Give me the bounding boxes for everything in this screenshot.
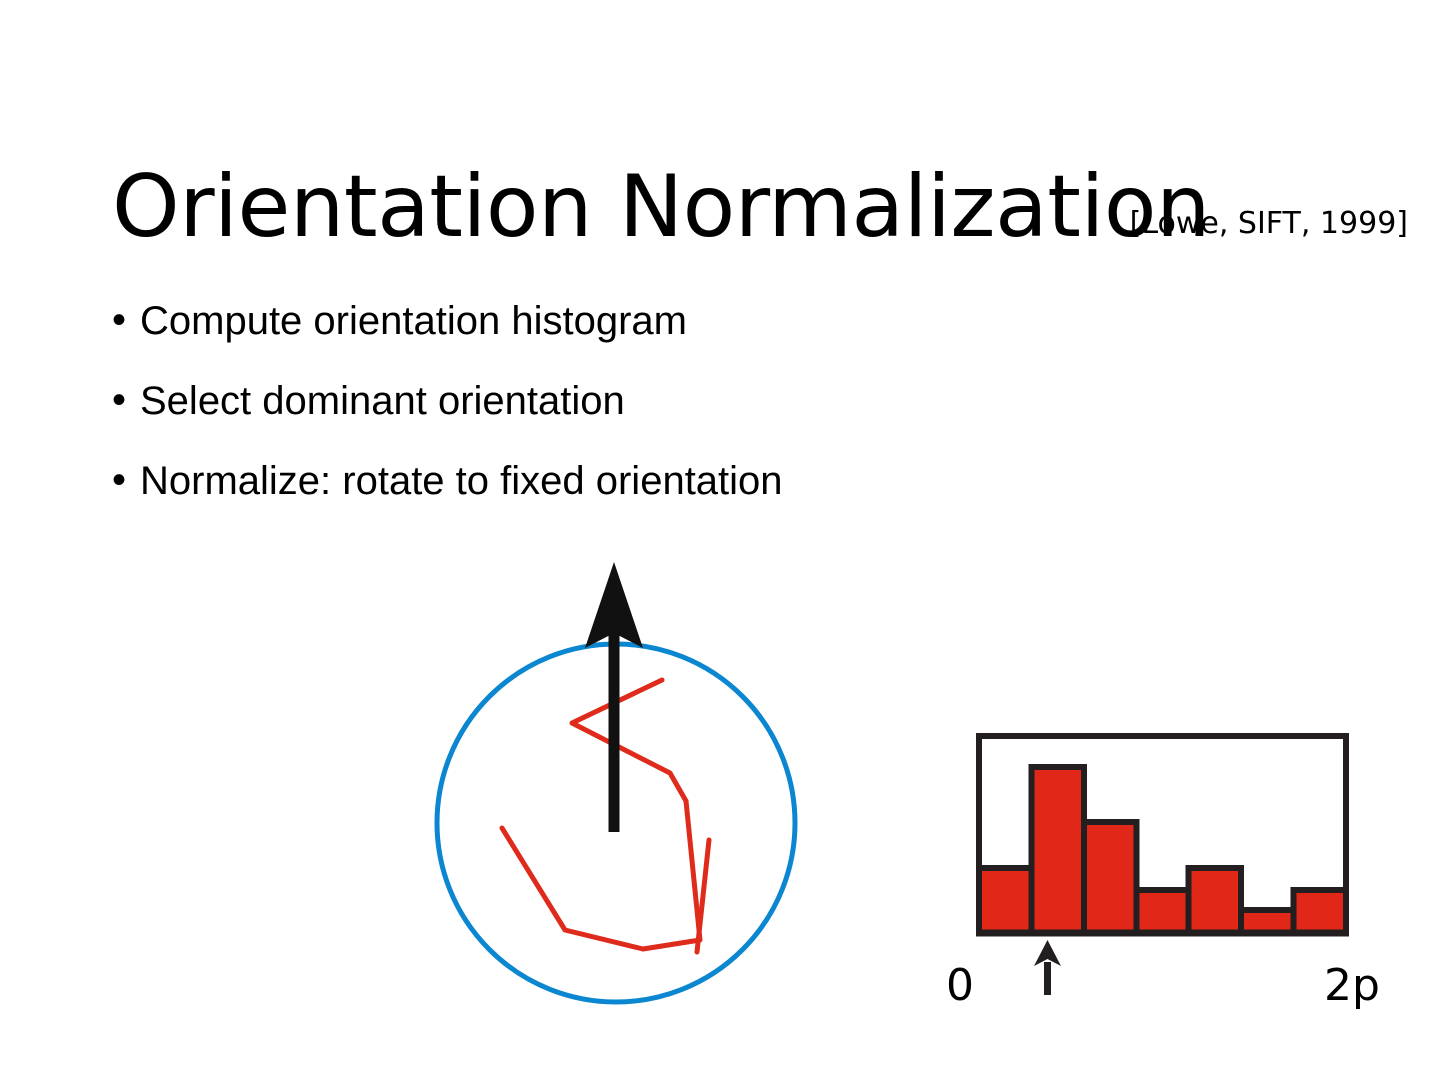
gradient-stroke bbox=[502, 828, 643, 949]
histogram-bar bbox=[1189, 868, 1241, 933]
histogram-bar bbox=[1084, 822, 1136, 933]
dominant-orientation-arrow-icon bbox=[585, 562, 643, 832]
histogram-bar bbox=[1136, 890, 1188, 933]
patch-figure bbox=[400, 540, 860, 1040]
dominant-bin-marker-icon bbox=[1034, 940, 1061, 995]
citation-reference: [Lowe, SIFT, 1999] bbox=[1130, 205, 1408, 243]
orientation-histogram: 0 2p bbox=[940, 700, 1400, 1020]
histogram-axis-label-left: 0 bbox=[946, 960, 974, 1011]
bullet-point-icon: • bbox=[112, 456, 140, 504]
histogram-axis-label-right: 2p bbox=[1324, 960, 1380, 1011]
bullet-text: Compute orientation histogram bbox=[140, 296, 687, 346]
bullet-point-icon: • bbox=[112, 296, 140, 344]
gradient-stroke bbox=[697, 840, 709, 952]
bullet-text: Normalize: rotate to fixed orientation bbox=[140, 456, 783, 506]
gradient-strokes-group bbox=[502, 680, 709, 952]
patch-figure-svg bbox=[400, 540, 860, 1040]
gradient-stroke bbox=[572, 680, 686, 801]
slide-canvas: Orientation Normalization [Lowe, SIFT, 1… bbox=[0, 0, 1440, 1080]
list-item: • Select dominant orientation bbox=[112, 376, 1212, 432]
histogram-bar bbox=[979, 868, 1031, 933]
histogram-bar bbox=[1294, 890, 1346, 933]
histogram-bars bbox=[979, 767, 1346, 933]
list-item: • Normalize: rotate to fixed orientation bbox=[112, 456, 1212, 512]
histogram-bar bbox=[1031, 767, 1083, 933]
bullet-point-icon: • bbox=[112, 376, 140, 424]
bullet-text: Select dominant orientation bbox=[140, 376, 625, 426]
list-item: • Compute orientation histogram bbox=[112, 296, 1212, 352]
bullet-list: • Compute orientation histogram • Select… bbox=[112, 296, 1212, 536]
gradient-stroke bbox=[643, 801, 700, 949]
orientation-histogram-svg: 0 2p bbox=[940, 700, 1400, 1020]
